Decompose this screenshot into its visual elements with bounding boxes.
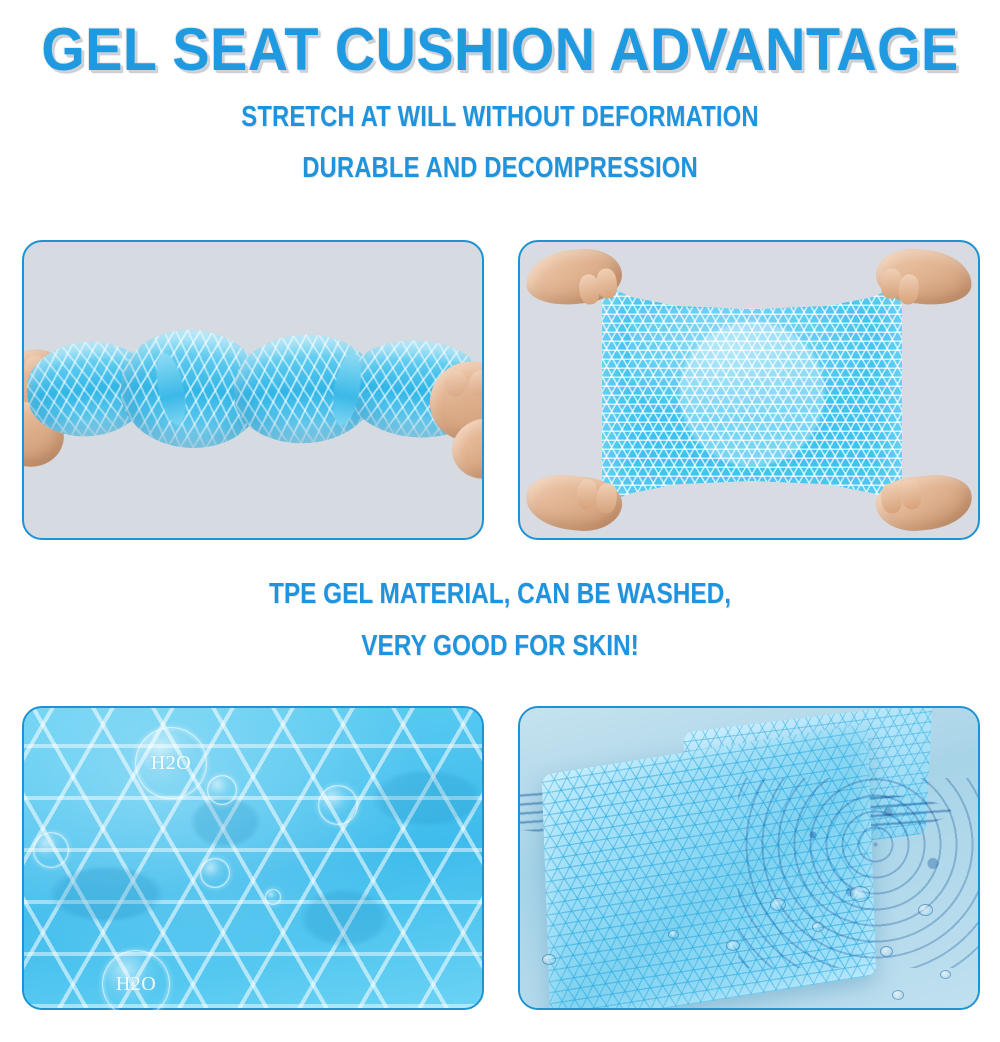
finger-icon	[900, 478, 923, 510]
finger-icon	[897, 273, 920, 305]
water-droplet	[542, 954, 556, 965]
water-droplet	[850, 886, 870, 902]
subtitle-line-2: DURABLE AND DECOMPRESSION	[90, 132, 910, 183]
water-scene	[520, 708, 978, 1008]
knuckle-icon	[467, 369, 484, 398]
stretched-gel-scene	[520, 242, 978, 538]
water-droplet	[918, 904, 933, 916]
water-droplet	[812, 922, 824, 932]
panel-gel-pad-washing	[518, 706, 980, 1010]
water-bubble	[200, 858, 230, 888]
water-droplet	[726, 940, 740, 951]
page-title: GEL SEAT CUSHION ADVANTAGE	[35, 0, 965, 80]
finger-icon	[880, 482, 903, 514]
knuckle-icon	[443, 369, 469, 398]
water-bubble-h2o-small: H2O	[102, 950, 170, 1018]
water-droplet	[892, 990, 904, 1000]
headings-block: GEL SEAT CUSHION ADVANTAGE STRETCH AT WI…	[0, 0, 1000, 183]
water-droplet	[668, 930, 679, 939]
middle-caption-block: TPE GEL MATERIAL, CAN BE WASHED, VERY GO…	[0, 580, 1000, 661]
finger-icon	[575, 478, 598, 510]
honeycomb-gel-sheet	[602, 284, 902, 504]
caption-line-1: TPE GEL MATERIAL, CAN BE WASHED,	[80, 580, 920, 609]
water-bubble	[33, 832, 69, 868]
subtitle-line-1: STRETCH AT WILL WITHOUT DEFORMATION	[90, 80, 910, 132]
caption-line-2: VERY GOOD FOR SKIN!	[80, 609, 920, 661]
twisted-gel-scene	[24, 242, 482, 538]
panel-honeycomb-macro	[22, 706, 484, 1010]
panel-twisted-gel-cushion	[22, 240, 484, 540]
water-bubble-h2o-large: H2O	[135, 727, 207, 799]
panel-stretched-gel-cushion	[518, 240, 980, 540]
bubble-label-h2o: H2O	[116, 973, 156, 996]
water-bubble	[207, 775, 237, 805]
water-droplet	[940, 970, 951, 979]
water-droplet	[770, 898, 786, 911]
water-bubble	[318, 785, 358, 825]
water-droplet	[880, 946, 893, 957]
honeycomb-cell-shading	[24, 708, 482, 1008]
water-splash	[738, 778, 980, 968]
bubble-label-h2o: H2O	[151, 752, 191, 775]
water-bubble	[265, 889, 281, 905]
twisted-gel-rope	[22, 330, 484, 448]
finger-icon	[595, 482, 618, 514]
